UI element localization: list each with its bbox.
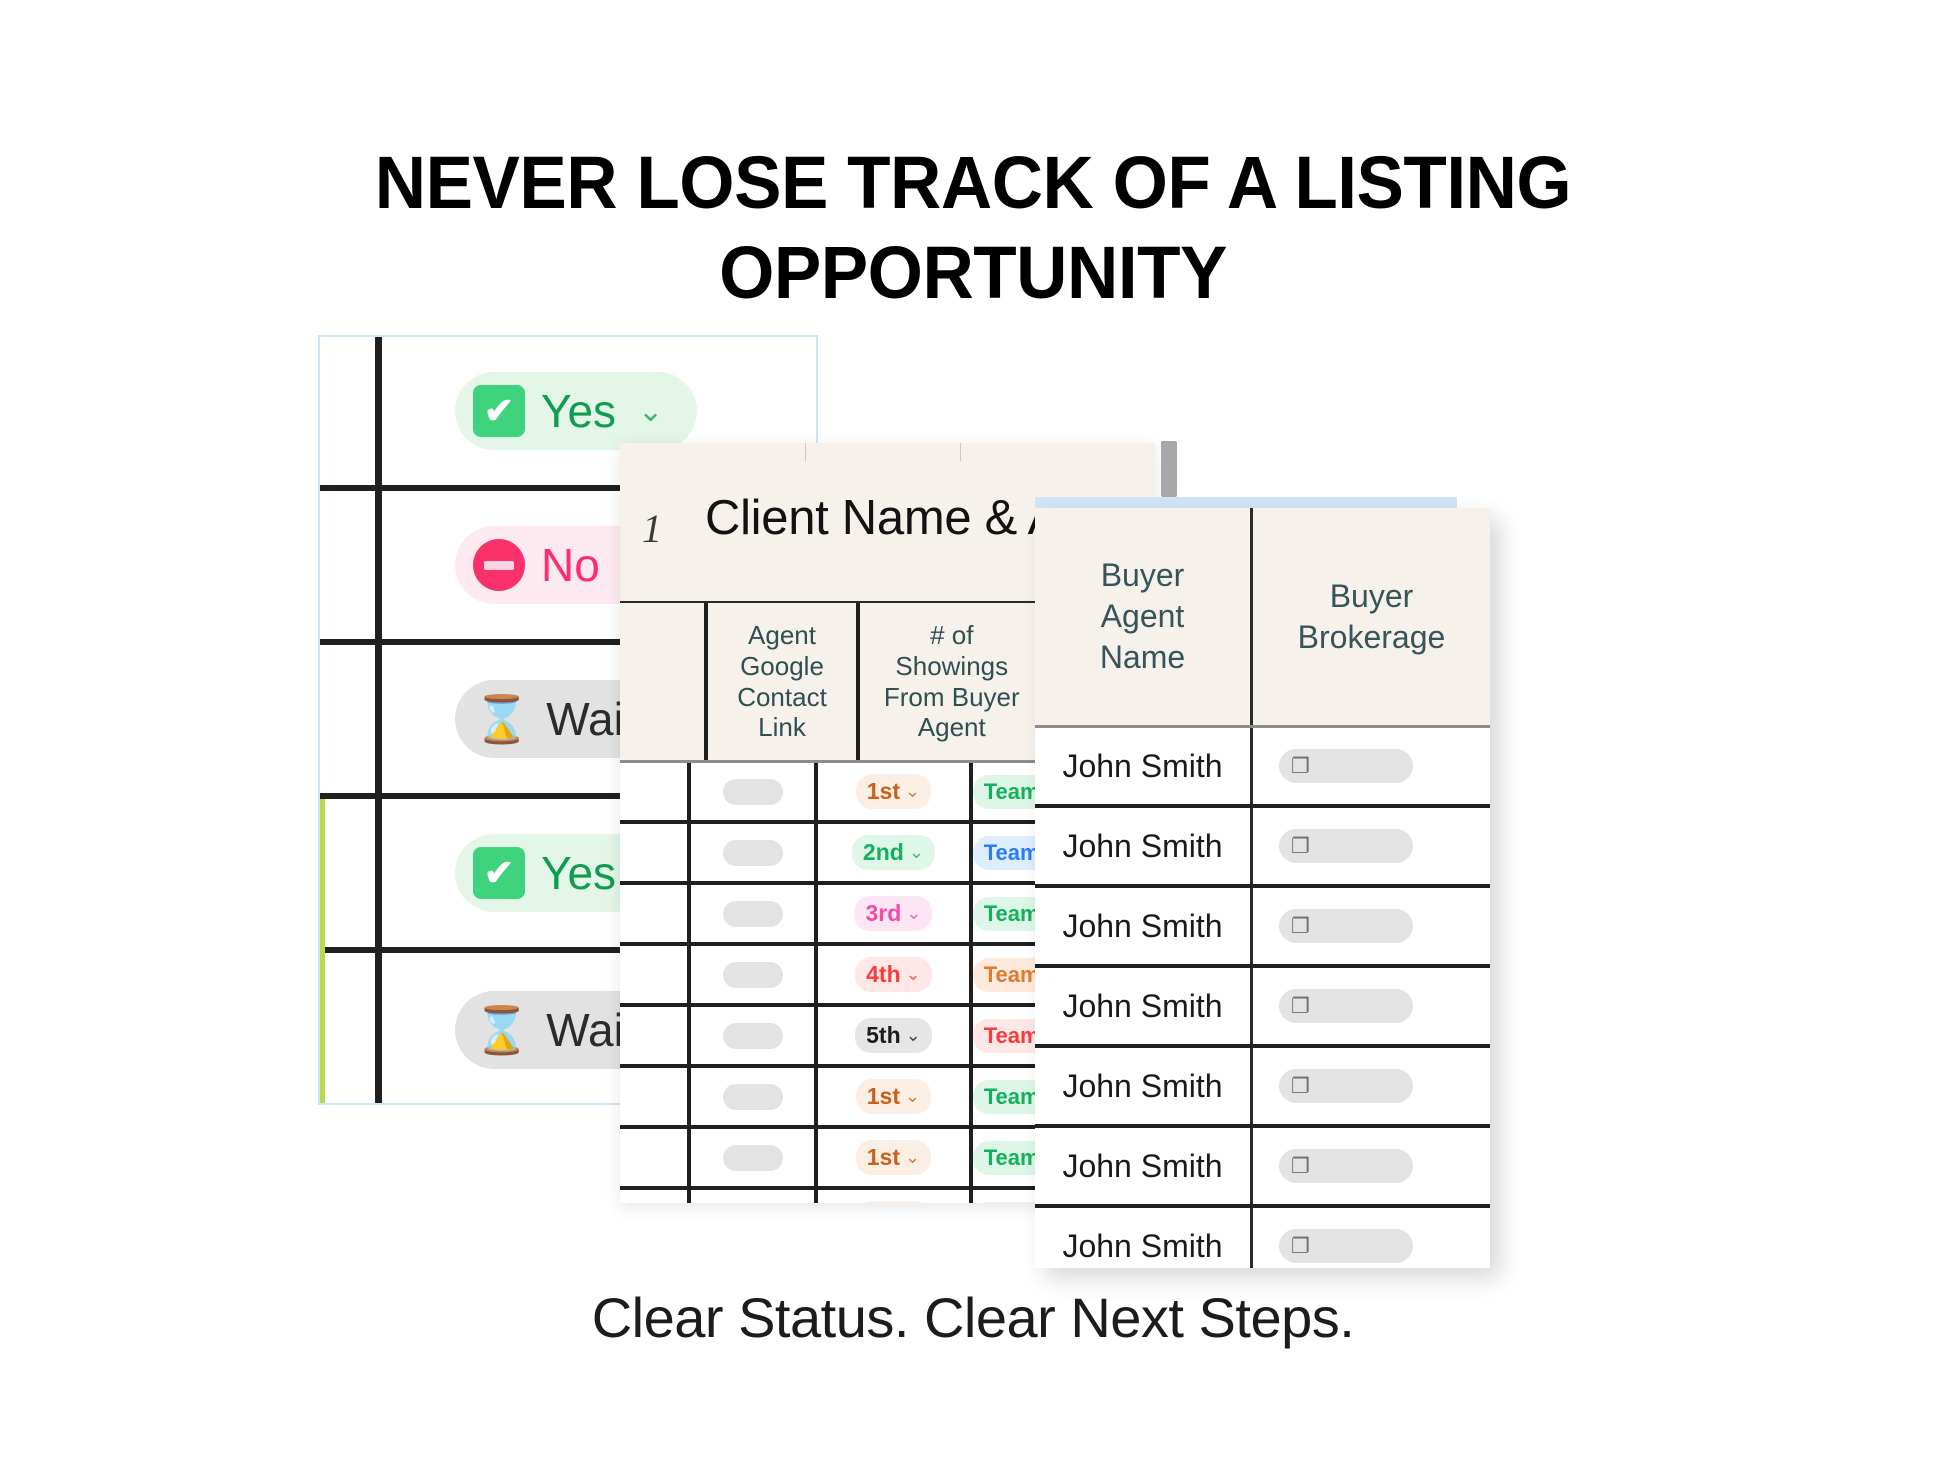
column-header-blank: [620, 603, 704, 760]
showings-badge[interactable]: 1st⌄: [856, 774, 931, 809]
column-header-agent-google-contact-link: AgentGoogleContact Link: [704, 603, 857, 760]
buyer-table-header-row: BuyerAgentName BuyerBrokerage: [1035, 508, 1490, 728]
showings-cell[interactable]: 1st⌄: [814, 1190, 969, 1203]
brokerage-placeholder-pill[interactable]: ❐: [1279, 1069, 1413, 1103]
link-placeholder-pill[interactable]: [723, 962, 783, 988]
table-row: John Smith❐: [1035, 888, 1490, 968]
chevron-down-icon[interactable]: ⌄: [905, 1147, 920, 1168]
showings-badge-label: 3rd: [865, 900, 901, 927]
column-guide-2: [960, 443, 961, 461]
status-badge-label: Yes: [541, 384, 616, 438]
link-placeholder-pill[interactable]: [723, 1145, 783, 1171]
copy-link-icon: ❐: [1291, 1076, 1310, 1097]
agent-google-contact-link-cell[interactable]: [687, 946, 814, 1003]
buyer-agent-name-cell[interactable]: John Smith: [1035, 808, 1250, 884]
link-placeholder-pill[interactable]: [723, 779, 783, 805]
buyer-brokerage-cell[interactable]: ❐: [1250, 888, 1490, 964]
showings-badge[interactable]: 4th⌄: [855, 957, 932, 992]
buyer-agent-name-cell[interactable]: John Smith: [1035, 968, 1250, 1044]
table-row: John Smith❐: [1035, 728, 1490, 808]
brokerage-placeholder-pill[interactable]: ❐: [1279, 1229, 1413, 1263]
showings-badge[interactable]: 3rd⌄: [854, 896, 932, 931]
copy-link-icon: ❐: [1291, 836, 1310, 857]
agent-google-contact-link-cell[interactable]: [687, 1007, 814, 1064]
table-row: John Smith❐: [1035, 1048, 1490, 1128]
brokerage-placeholder-pill[interactable]: ❐: [1279, 909, 1413, 943]
row-number: 1: [642, 505, 662, 552]
showings-badge[interactable]: 1st⌄: [856, 1079, 931, 1114]
showings-cell[interactable]: 5th⌄: [814, 1007, 969, 1064]
brokerage-placeholder-pill[interactable]: ❐: [1279, 989, 1413, 1023]
buyer-agent-name-cell[interactable]: John Smith: [1035, 728, 1250, 804]
showings-cell[interactable]: 4th⌄: [814, 946, 969, 1003]
showings-badge[interactable]: 2nd⌄: [852, 835, 935, 870]
showings-badge-label: 2nd: [863, 839, 904, 866]
showings-cell[interactable]: 1st⌄: [814, 1129, 969, 1186]
showings-badge-label: 1st: [867, 1083, 900, 1110]
agent-google-contact-link-cell[interactable]: [687, 1129, 814, 1186]
status-badge-label: No: [541, 538, 600, 592]
status-badge-yes[interactable]: ✔Yes⌄: [455, 372, 697, 450]
chevron-down-icon[interactable]: ⌄: [909, 842, 924, 863]
row-accent-bar: [320, 953, 325, 1105]
table-row: John Smith❐: [1035, 1128, 1490, 1208]
chevron-down-icon[interactable]: ⌄: [905, 781, 920, 802]
link-placeholder-pill[interactable]: [723, 1084, 783, 1110]
showings-badge-label: 4th: [866, 961, 901, 988]
buyer-agent-table-card: BuyerAgentName BuyerBrokerage John Smith…: [1035, 508, 1490, 1268]
copy-link-icon: ❐: [1291, 1236, 1310, 1257]
check-square-icon: ✔: [473, 385, 525, 437]
table-row: John Smith❐: [1035, 808, 1490, 888]
agent-google-contact-link-cell[interactable]: [687, 1068, 814, 1125]
agent-google-contact-link-cell[interactable]: [687, 824, 814, 881]
showings-badge-label: 1st: [867, 778, 900, 805]
showings-badge[interactable]: 1st⌄: [856, 1201, 931, 1203]
column-header-buyer-brokerage: BuyerBrokerage: [1250, 508, 1490, 725]
tagline: Clear Status. Clear Next Steps.: [0, 1285, 1946, 1350]
brokerage-placeholder-pill[interactable]: ❐: [1279, 749, 1413, 783]
showings-cell[interactable]: 1st⌄: [814, 763, 969, 820]
buyer-brokerage-cell[interactable]: ❐: [1250, 968, 1490, 1044]
column-header-showings-from-buyer-agent: # ofShowingsFrom BuyerAgent: [856, 603, 1043, 760]
brokerage-placeholder-pill[interactable]: ❐: [1279, 1149, 1413, 1183]
showings-badge-label: 5th: [866, 1022, 901, 1049]
buyer-agent-name-cell[interactable]: John Smith: [1035, 1048, 1250, 1124]
showings-cell[interactable]: 1st⌄: [814, 1068, 969, 1125]
buyer-brokerage-cell[interactable]: ❐: [1250, 808, 1490, 884]
copy-link-icon: ❐: [1291, 996, 1310, 1017]
showings-cell[interactable]: 2nd⌄: [814, 824, 969, 881]
buyer-brokerage-cell[interactable]: ❐: [1250, 1128, 1490, 1204]
buyer-agent-name-cell[interactable]: John Smith: [1035, 1208, 1250, 1268]
brokerage-placeholder-pill[interactable]: ❐: [1279, 829, 1413, 863]
showings-badge-label: 1st: [867, 1144, 900, 1171]
link-placeholder-pill[interactable]: [723, 1023, 783, 1049]
buyer-brokerage-cell[interactable]: ❐: [1250, 728, 1490, 804]
showings-badge[interactable]: 5th⌄: [855, 1018, 932, 1053]
table-row: John Smith❐: [1035, 968, 1490, 1048]
buyer-brokerage-cell[interactable]: ❐: [1250, 1208, 1490, 1268]
table-row: John Smith❐: [1035, 1208, 1490, 1268]
row-accent-bar: [320, 799, 325, 953]
screenshot-stage: ✔Yes⌄No⌄⌛Waiting⌄✔Yes⌄⌛Waiting⌄ 1 Client…: [0, 0, 1946, 1459]
copy-link-icon: ❐: [1291, 916, 1310, 937]
hourglass-icon: ⌛: [473, 1007, 530, 1053]
status-badge-label: Yes: [541, 846, 616, 900]
link-placeholder-pill[interactable]: [723, 901, 783, 927]
showings-badge[interactable]: 1st⌄: [856, 1140, 931, 1175]
buyer-table-body: John Smith❐John Smith❐John Smith❐John Sm…: [1035, 728, 1490, 1268]
buyer-agent-name-cell[interactable]: John Smith: [1035, 888, 1250, 964]
scrollbar-handle[interactable]: [1161, 441, 1177, 497]
hourglass-icon: ⌛: [473, 696, 530, 742]
column-guide-1: [805, 443, 806, 461]
link-placeholder-pill[interactable]: [723, 840, 783, 866]
chevron-down-icon[interactable]: ⌄: [906, 903, 921, 924]
chevron-down-icon[interactable]: ⌄: [905, 1086, 920, 1107]
no-entry-icon: [473, 539, 525, 591]
copy-link-icon: ❐: [1291, 1156, 1310, 1177]
showings-cell[interactable]: 3rd⌄: [814, 885, 969, 942]
check-square-icon: ✔: [473, 847, 525, 899]
agent-google-contact-link-cell[interactable]: [687, 885, 814, 942]
buyer-brokerage-cell[interactable]: ❐: [1250, 1048, 1490, 1124]
chevron-down-icon[interactable]: ⌄: [638, 394, 663, 429]
agent-google-contact-link-cell[interactable]: [687, 1190, 814, 1203]
copy-link-icon: ❐: [1291, 756, 1310, 777]
chevron-down-icon[interactable]: ⌄: [906, 1025, 921, 1046]
agent-google-contact-link-cell[interactable]: [687, 763, 814, 820]
buyer-agent-name-cell[interactable]: John Smith: [1035, 1128, 1250, 1204]
chevron-down-icon[interactable]: ⌄: [906, 964, 921, 985]
column-header-buyer-agent-name: BuyerAgentName: [1035, 508, 1250, 725]
